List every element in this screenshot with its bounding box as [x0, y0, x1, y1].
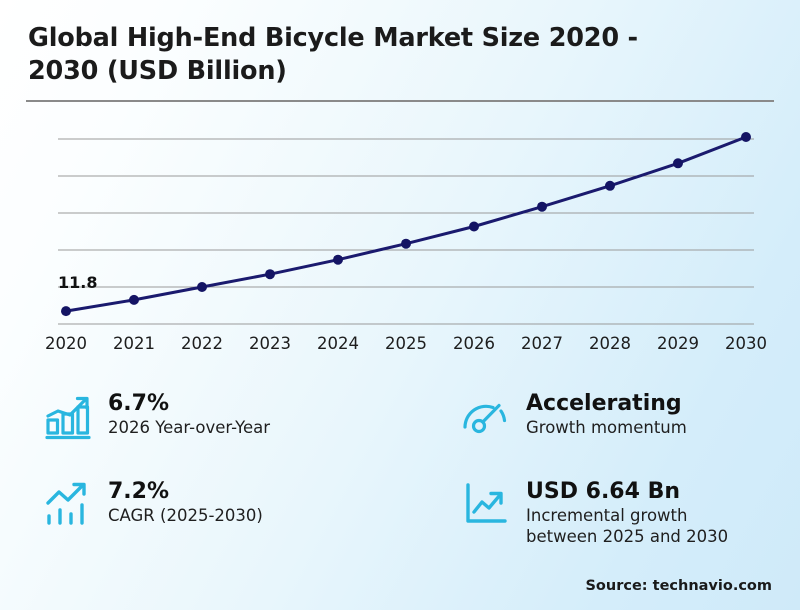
stat-value-incremental: USD 6.64 Bn	[526, 479, 728, 504]
data-point-2023	[265, 269, 275, 279]
x-axis-tick-2020: 2020	[45, 334, 87, 353]
x-axis-tick-2028: 2028	[589, 334, 631, 353]
data-point-2030	[741, 132, 751, 142]
data-point-label-2020: 11.8	[58, 273, 97, 292]
x-axis-tick-2022: 2022	[181, 334, 223, 353]
x-axis-tick-2027: 2027	[521, 334, 563, 353]
speedometer-icon	[460, 390, 512, 442]
x-axis-tick-2025: 2025	[385, 334, 427, 353]
x-axis-tick-2023: 2023	[249, 334, 291, 353]
line-chart: 2020202120222023202420252026202720282029…	[0, 108, 800, 370]
stat-value-yoy: 6.7%	[108, 391, 270, 416]
x-axis-tick-2029: 2029	[657, 334, 699, 353]
stats-panel: 6.7% 2026 Year-over-Year 7.2% CAGR (2025…	[0, 378, 800, 568]
chart-gridlines	[58, 139, 754, 324]
stat-card-momentum: Accelerating Growth momentum	[460, 390, 687, 442]
stat-text-momentum: Accelerating Growth momentum	[526, 390, 687, 439]
stat-card-yoy: 6.7% 2026 Year-over-Year	[42, 390, 270, 442]
trend-up-bars-icon	[42, 478, 94, 530]
data-point-2021	[129, 295, 139, 305]
title-block: Global High-End Bicycle Market Size 2020…	[28, 22, 772, 87]
data-point-2025	[401, 239, 411, 249]
stat-label-cagr: CAGR (2025-2030)	[108, 506, 263, 527]
chart-data-line	[66, 137, 746, 311]
page-title: Global High-End Bicycle Market Size 2020…	[28, 22, 772, 87]
x-axis-tick-2030: 2030	[725, 334, 767, 353]
infographic-canvas: Global High-End Bicycle Market Size 2020…	[0, 0, 800, 610]
data-point-2029	[673, 158, 683, 168]
line-chart-arrow-icon	[460, 478, 512, 530]
x-axis-tick-2024: 2024	[317, 334, 359, 353]
stat-text-cagr: 7.2% CAGR (2025-2030)	[108, 478, 263, 527]
chart-data-points	[61, 132, 751, 316]
x-axis-labels: 2020202120222023202420252026202720282029…	[0, 334, 800, 364]
stat-card-cagr: 7.2% CAGR (2025-2030)	[42, 478, 263, 530]
data-point-2024	[333, 255, 343, 265]
stat-label-momentum: Growth momentum	[526, 418, 687, 439]
title-divider	[26, 100, 774, 102]
x-axis-tick-2026: 2026	[453, 334, 495, 353]
stat-label-yoy: 2026 Year-over-Year	[108, 418, 270, 439]
stat-text-incremental: USD 6.64 Bn Incremental growth between 2…	[526, 478, 728, 547]
chart-svg	[0, 108, 800, 370]
stat-value-cagr: 7.2%	[108, 479, 263, 504]
data-point-2026	[469, 222, 479, 232]
source-attribution: Source: technavio.com	[585, 578, 772, 594]
x-axis-tick-2021: 2021	[113, 334, 155, 353]
bar-chart-growth-icon	[42, 390, 94, 442]
data-point-2028	[605, 181, 615, 191]
stat-value-momentum: Accelerating	[526, 391, 687, 416]
data-point-2027	[537, 202, 547, 212]
data-point-2020	[61, 306, 71, 316]
data-point-2022	[197, 282, 207, 292]
stat-label-incremental: Incremental growth between 2025 and 2030	[526, 506, 728, 547]
stat-text-yoy: 6.7% 2026 Year-over-Year	[108, 390, 270, 439]
stat-card-incremental: USD 6.64 Bn Incremental growth between 2…	[460, 478, 728, 547]
